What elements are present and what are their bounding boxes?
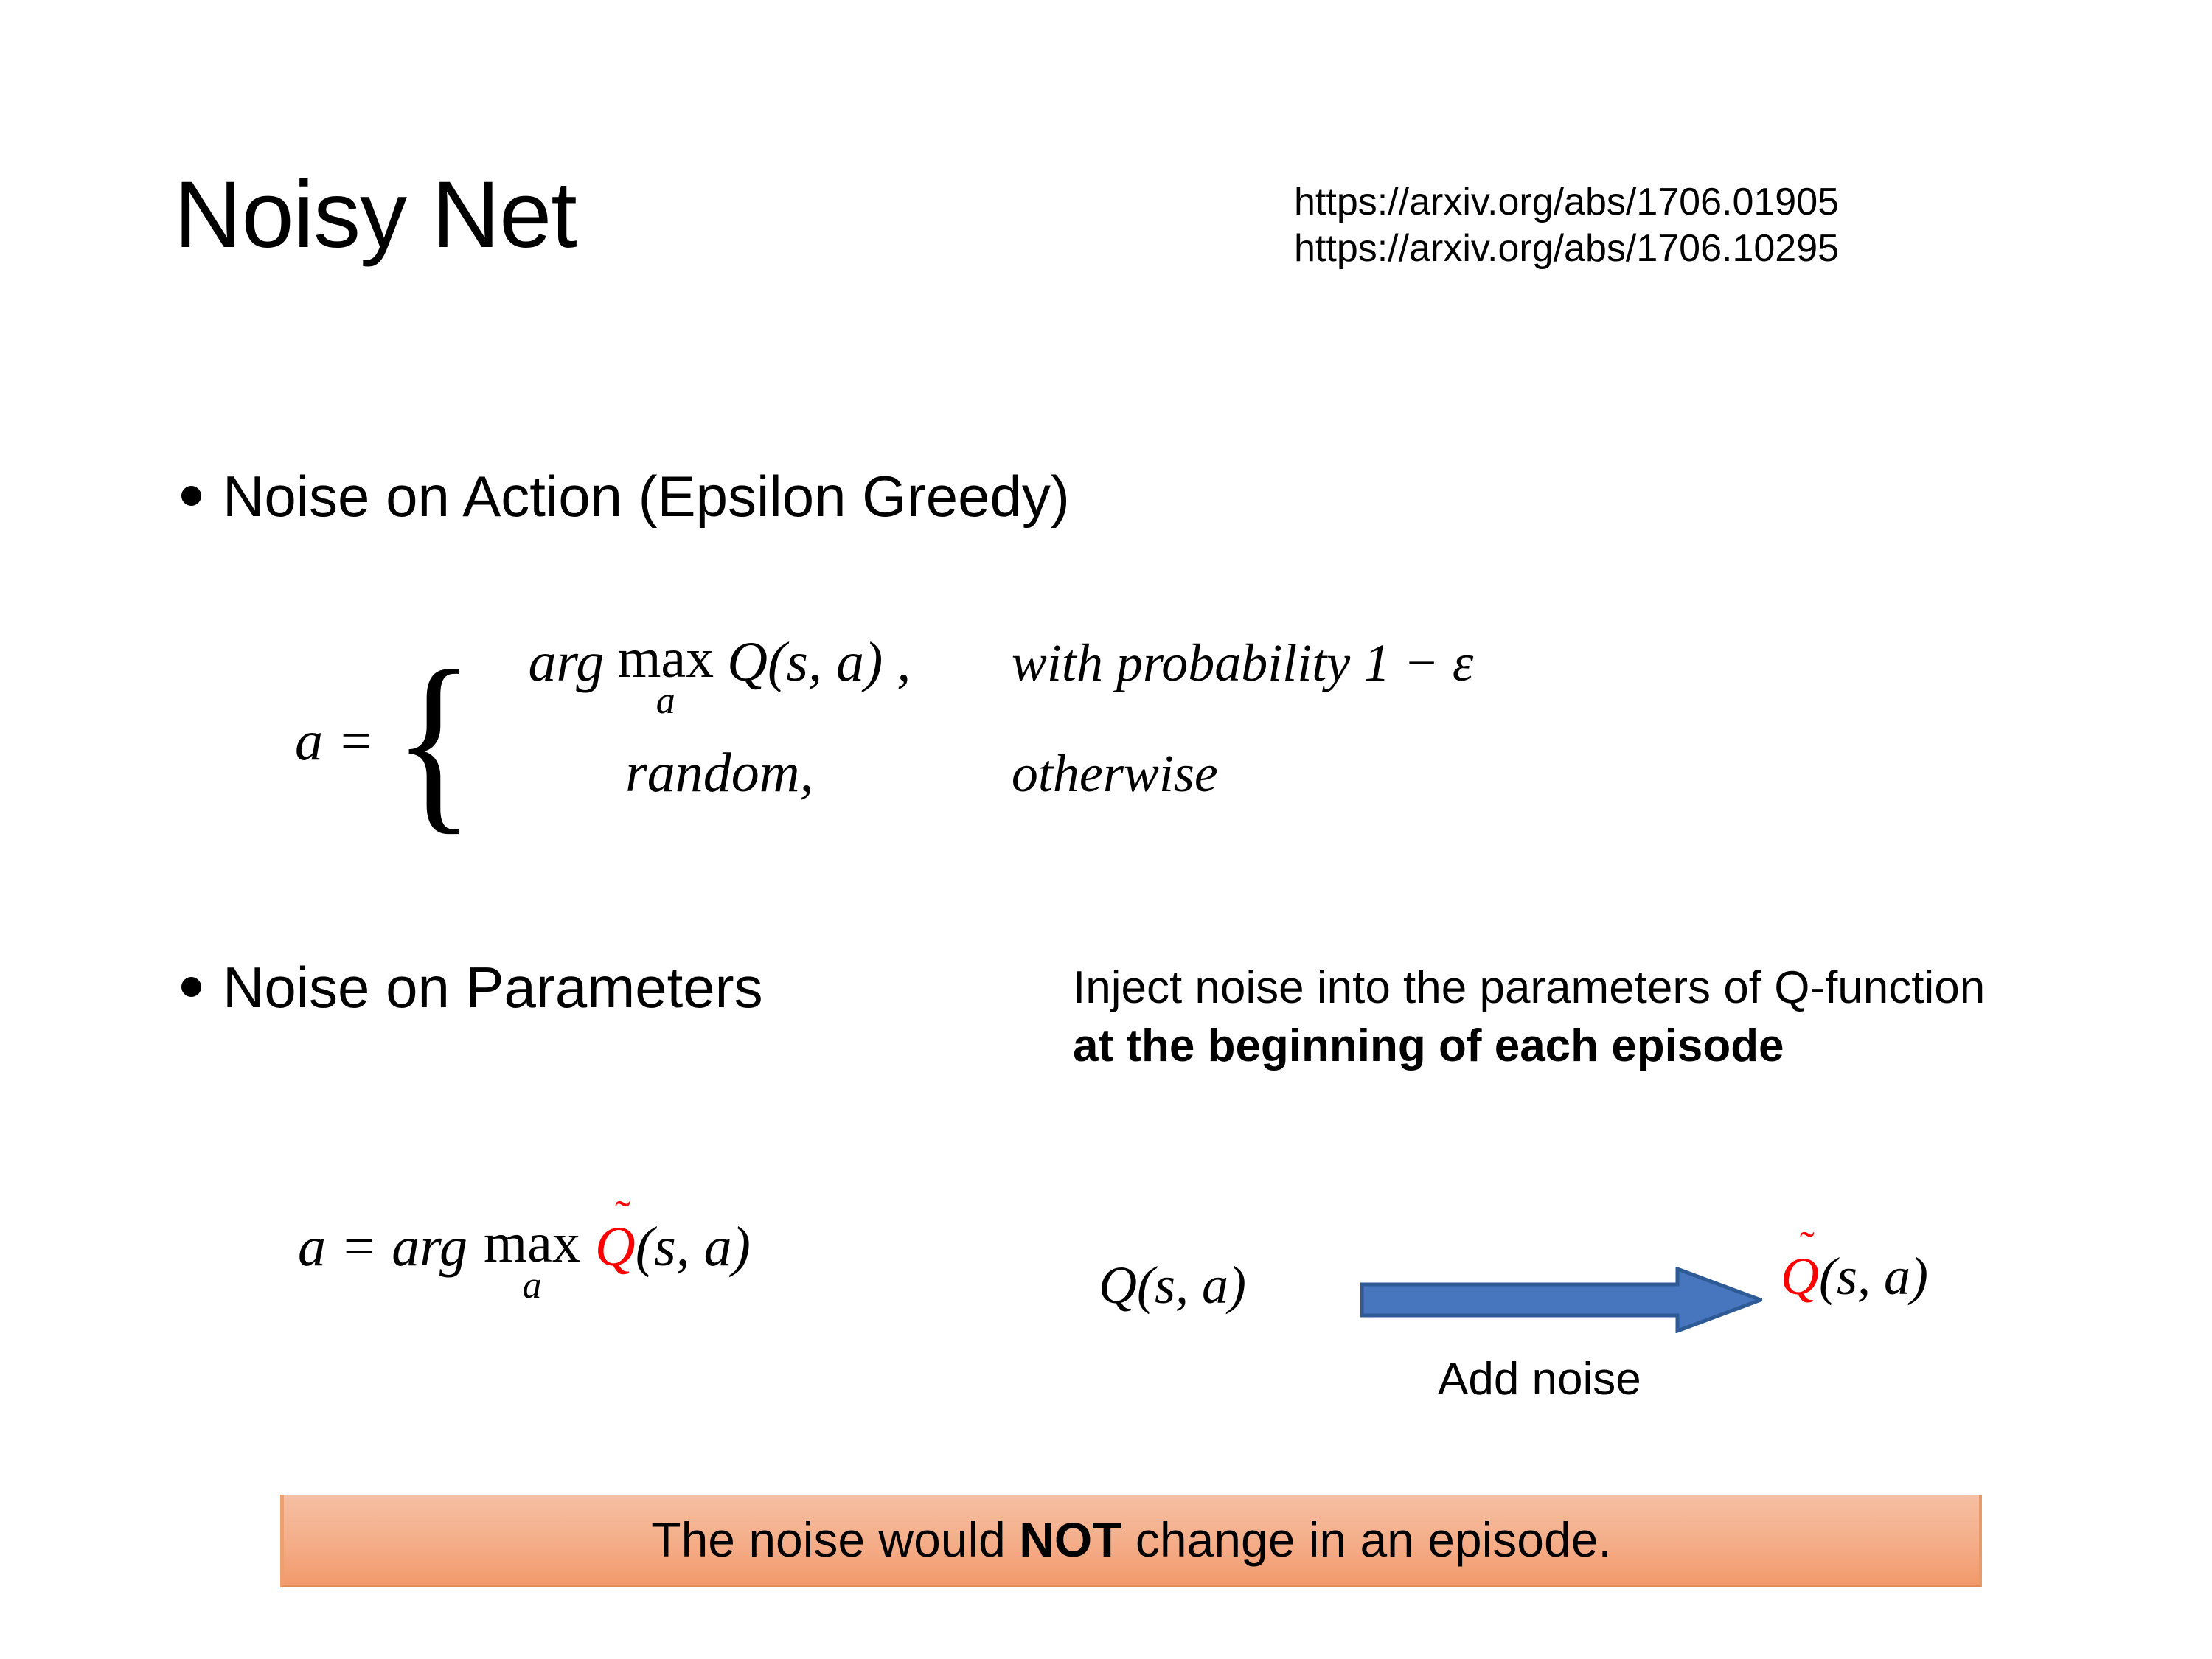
callout-text-before: The noise would [651,1512,1019,1567]
callout-text-bold: NOT [1019,1512,1121,1567]
q-tilde-symbol: ̃ Q [1781,1246,1819,1307]
q-letter: Q [595,1216,636,1278]
max-operator-label: max [617,630,714,686]
add-noise-diagram: Q(s, a) Add noise ̃ Q (s, a) [1099,1246,2072,1423]
inject-noise-description: Inject noise into the parameters of Q-fu… [1073,959,2031,1076]
slide-canvas: Noisy Net https://arxiv.org/abs/1706.019… [0,0,2212,1659]
bullet-dot-icon [181,486,201,506]
callout-text: The noise would NOT change in an episode… [651,1512,1612,1568]
bullet-label: Noise on Parameters [223,959,763,1016]
argmax-operator: max a [484,1215,580,1305]
argmax-operator: max a [617,630,714,720]
q-tilde-symbol: ̃ Q [595,1215,636,1279]
bullet-dot-icon [181,977,201,997]
case-expression-argmax: arg max a Q(s, a) , [491,630,948,720]
case-condition-probability: with probability 1 − ε [948,633,1473,694]
case-condition-otherwise: otherwise [948,743,1218,804]
equation-lhs: a = [295,713,375,769]
arxiv-link-2[interactable]: https://arxiv.org/abs/1706.10295 [1294,226,1839,272]
q-arguments: (s, a) [1819,1247,1928,1306]
target-q-tilde-function: ̃ Q (s, a) [1781,1246,1928,1307]
arg-keyword: arg [529,630,605,695]
bullet-noise-on-action: Noise on Action (Epsilon Greedy) [181,467,1070,525]
max-subscript: a [522,1267,541,1305]
callout-box: The noise would NOT change in an episode… [280,1495,1982,1587]
case-row-greedy: arg max a Q(s, a) , with probability 1 −… [491,630,1473,741]
equation-noisy-argmax: a = arg max a ̃ Q (s, a) [298,1215,751,1305]
q-letter: Q [1781,1247,1819,1306]
bullet-noise-on-parameters: Noise on Parameters [181,959,763,1016]
noisy-equation-lhs: a = arg [298,1215,467,1279]
equation-epsilon-greedy: a = { arg max a Q(s, a) , with [295,630,1473,852]
bullet-label: Noise on Action (Epsilon Greedy) [223,467,1070,525]
source-q-function: Q(s, a) [1099,1255,1246,1316]
case-row-random: random, otherwise [491,741,1473,852]
add-noise-label: Add noise [1438,1353,1641,1405]
case-expression-random: random, [491,741,948,805]
inject-text-normal: Inject noise into the parameters of Q-fu… [1073,962,1985,1013]
reference-links: https://arxiv.org/abs/1706.01905 https:/… [1294,179,1839,273]
callout-text-after: change in an episode. [1122,1512,1612,1567]
cases-block: arg max a Q(s, a) , with probability 1 −… [491,630,1473,852]
max-subscript: a [656,682,675,720]
max-operator-label: max [484,1215,580,1271]
inject-text-bold: at the beginning of each episode [1073,1020,1784,1071]
q-arguments: (s, a) [636,1215,751,1279]
arxiv-link-1[interactable]: https://arxiv.org/abs/1706.01905 [1294,179,1839,226]
q-function-term: Q(s, a) , [727,630,911,695]
add-noise-arrow-icon [1360,1267,1762,1333]
left-brace-glyph: { [394,664,475,819]
page-title: Noisy Net [174,168,577,262]
